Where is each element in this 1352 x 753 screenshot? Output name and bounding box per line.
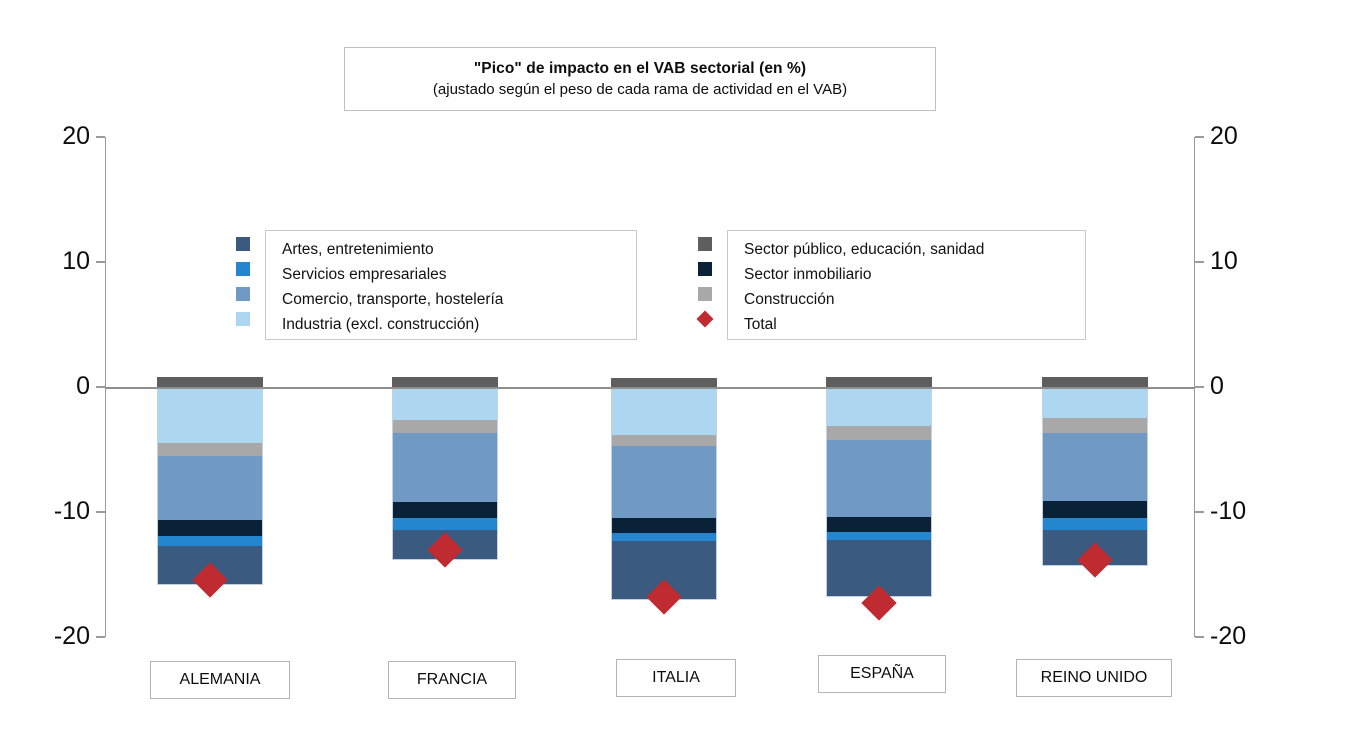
legend-item-label: Artes, entretenimiento xyxy=(282,241,434,259)
legend-item-label: Servicios empresariales xyxy=(282,266,447,284)
bar-segment[interactable] xyxy=(1042,433,1148,501)
legend-item[interactable]: Sector público, educación, sanidad xyxy=(744,237,984,262)
legend-item[interactable]: Sector inmobiliario xyxy=(744,262,984,287)
tick-right--10 xyxy=(1195,511,1204,513)
tick-left--10 xyxy=(96,511,105,513)
bar-segment[interactable] xyxy=(392,420,498,434)
chart-canvas: "Pico" de impacto en el VAB sectorial (e… xyxy=(0,0,1352,753)
bar-segment[interactable] xyxy=(157,443,263,456)
plot-area xyxy=(105,137,1195,637)
axis-label-left-0: 0 xyxy=(76,374,90,399)
bar-segment[interactable] xyxy=(1042,387,1148,418)
tick-right-20 xyxy=(1195,136,1204,138)
legend-item-label: Comercio, transporte, hostelería xyxy=(282,291,503,309)
category-label-italia[interactable]: ITALIA xyxy=(616,659,736,697)
chart-title: "Pico" de impacto en el VAB sectorial (e… xyxy=(474,59,806,78)
bar-segment[interactable] xyxy=(157,377,263,387)
axis-label-right-0: 0 xyxy=(1210,374,1224,399)
axis-label-left-10: 10 xyxy=(62,249,90,274)
tick-right--20 xyxy=(1195,636,1204,638)
bar-segment[interactable] xyxy=(157,456,263,520)
bar-segment[interactable] xyxy=(157,520,263,536)
bar-segment[interactable] xyxy=(392,387,498,420)
bar-segment[interactable] xyxy=(611,518,717,533)
bar-segment[interactable] xyxy=(157,536,263,546)
axis-label-right--20: -20 xyxy=(1210,624,1246,649)
bar-segment[interactable] xyxy=(611,446,717,519)
bar-segment[interactable] xyxy=(826,387,932,426)
legend-item-label: Construcción xyxy=(744,291,834,309)
axis-label-right-10: 10 xyxy=(1210,249,1238,274)
category-label-francia[interactable]: FRANCIA xyxy=(388,661,516,699)
bar-segment[interactable] xyxy=(1042,501,1148,519)
axis-label-right-20: 20 xyxy=(1210,124,1238,149)
tick-left-10 xyxy=(96,261,105,263)
bar-segment[interactable] xyxy=(826,377,932,387)
bar-segment[interactable] xyxy=(392,518,498,529)
chart-subtitle: (ajustado según el peso de cada rama de … xyxy=(433,80,847,100)
tick-right-0 xyxy=(1195,386,1204,388)
legend-item[interactable]: Artes, entretenimiento xyxy=(282,237,503,262)
bar-segment[interactable] xyxy=(392,433,498,502)
bar-segment[interactable] xyxy=(1042,377,1148,387)
category-label-alemania[interactable]: ALEMANIA xyxy=(150,661,290,699)
tick-right-10 xyxy=(1195,261,1204,263)
bar-segment[interactable] xyxy=(611,435,717,446)
legend-item[interactable]: Construcción xyxy=(744,287,984,312)
legend-item-label: Sector público, educación, sanidad xyxy=(744,241,984,259)
bar-segment[interactable] xyxy=(392,502,498,518)
bar-segment[interactable] xyxy=(611,533,717,541)
zero-baseline xyxy=(105,387,1195,389)
category-label-reino-unido[interactable]: REINO UNIDO xyxy=(1016,659,1172,697)
legend-right: Sector público, educación, sanidadSector… xyxy=(727,230,1086,340)
bar-segment[interactable] xyxy=(826,517,932,532)
tick-left-20 xyxy=(96,136,105,138)
bar-segment[interactable] xyxy=(611,378,717,387)
legend-item[interactable]: Servicios empresariales xyxy=(282,262,503,287)
bar-segment[interactable] xyxy=(392,377,498,387)
category-label-españa[interactable]: ESPAÑA xyxy=(818,655,946,693)
legend-item[interactable]: Comercio, transporte, hostelería xyxy=(282,287,503,312)
legend-item[interactable]: Total xyxy=(744,312,984,337)
axis-label-left-20: 20 xyxy=(62,124,90,149)
bar-segment[interactable] xyxy=(826,426,932,440)
axis-label-left--10: -10 xyxy=(54,499,90,524)
bar-segment[interactable] xyxy=(1042,418,1148,433)
bar-segment[interactable] xyxy=(826,532,932,540)
bar-segment[interactable] xyxy=(1042,518,1148,529)
axis-label-left--20: -20 xyxy=(54,624,90,649)
chart-title-box: "Pico" de impacto en el VAB sectorial (e… xyxy=(344,47,936,111)
axis-label-right--10: -10 xyxy=(1210,499,1246,524)
bar-segment[interactable] xyxy=(826,440,932,518)
tick-left-0 xyxy=(96,386,105,388)
tick-left--20 xyxy=(96,636,105,638)
bar-segment[interactable] xyxy=(611,387,717,435)
legend-item[interactable]: Industria (excl. construcción) xyxy=(282,312,503,337)
legend-left: Artes, entretenimientoServicios empresar… xyxy=(265,230,637,340)
legend-item-label: Industria (excl. construcción) xyxy=(282,316,479,334)
legend-item-label: Total xyxy=(744,316,777,334)
legend-item-label: Sector inmobiliario xyxy=(744,266,872,284)
bar-segment[interactable] xyxy=(157,387,263,443)
